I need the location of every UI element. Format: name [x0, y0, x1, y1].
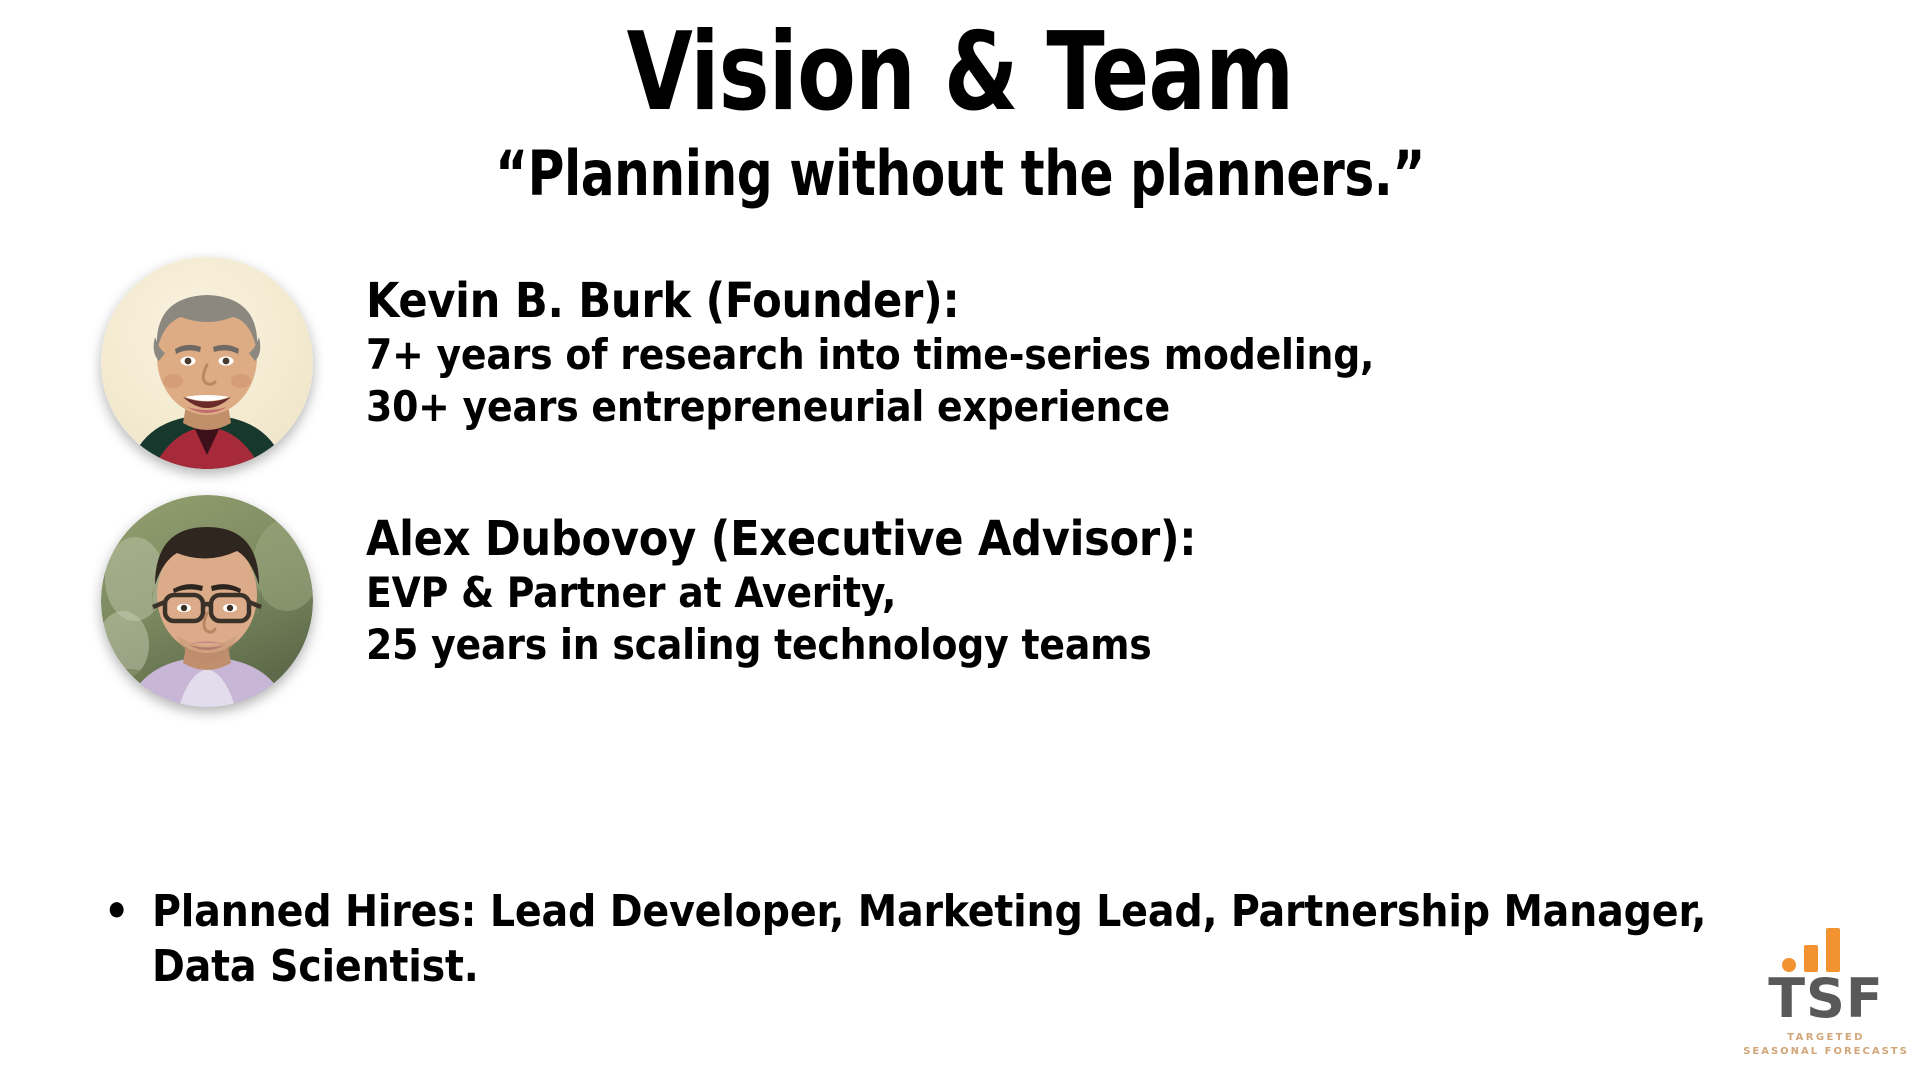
team-member-detail: EVP & Partner at Averity, — [366, 567, 1196, 620]
list-item: • Planned Hires: Lead Developer, Marketi… — [104, 885, 1784, 994]
team-member-detail: 25 years in scaling technology teams — [366, 619, 1196, 672]
logo-tagline-line2: SEASONAL FORECASTS — [1742, 1046, 1910, 1057]
logo-tagline-line1: TARGETED — [1742, 1032, 1910, 1043]
tsf-logo: TSF TARGETED SEASONAL FORECASTS — [1742, 928, 1910, 1060]
team-member-name: Kevin B. Burk (Founder): — [366, 274, 1374, 329]
team-member-text: Alex Dubovoy (Executive Advisor): EVP & … — [366, 490, 1196, 672]
team-member-name: Alex Dubovoy (Executive Advisor): — [366, 512, 1196, 567]
logo-wordmark: TSF — [1742, 972, 1910, 1026]
team-member-row: Alex Dubovoy (Executive Advisor): EVP & … — [96, 490, 1196, 712]
team-member-text: Kevin B. Burk (Founder): 7+ years of res… — [366, 252, 1374, 434]
list-item-label: Planned Hires: Lead Developer, Marketing… — [152, 885, 1784, 994]
planned-hires-list: • Planned Hires: Lead Developer, Marketi… — [104, 885, 1784, 994]
team-member-detail: 7+ years of research into time-series mo… — [366, 329, 1374, 382]
bullet-marker-icon: • — [104, 885, 152, 940]
slide-subtitle-quote: “Planning without the planners.” — [96, 140, 1824, 208]
portrait-photo-kevin-burk — [101, 257, 313, 469]
team-member-detail: 30+ years entrepreneurial experience — [366, 381, 1374, 434]
portrait-photo-alex-dubovoy — [101, 495, 313, 707]
avatar — [96, 490, 318, 712]
bar-chart-icon — [1782, 928, 1844, 972]
slide-canvas: Vision & Team “Planning without the plan… — [0, 0, 1920, 1080]
avatar — [96, 252, 318, 474]
team-member-row: Kevin B. Burk (Founder): 7+ years of res… — [96, 252, 1374, 474]
page-title: Vision & Team — [115, 16, 1805, 129]
